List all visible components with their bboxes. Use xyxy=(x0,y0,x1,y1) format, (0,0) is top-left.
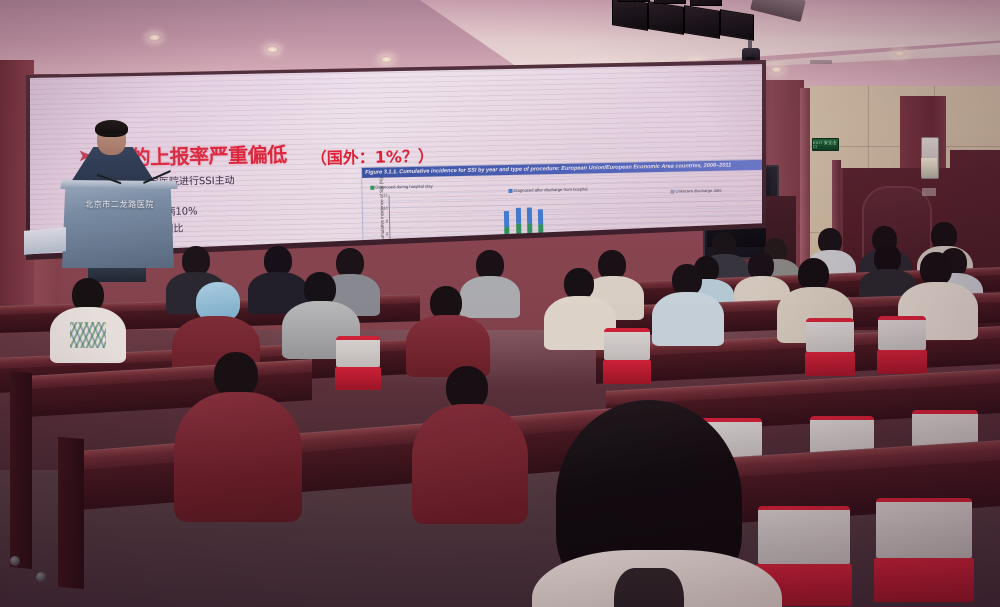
speaker-box-icon xyxy=(648,1,684,35)
y-tick: 6 xyxy=(379,231,388,236)
desk-end-panel xyxy=(58,437,84,589)
podium xyxy=(62,184,174,268)
wall-sconce-glow xyxy=(921,158,937,177)
laptop-screen[interactable] xyxy=(24,227,66,255)
lecture-hall-photo: EXIT 安全出口 ➤ SSI的上报率严重偏低 （国外：1%？） 为：Korel… xyxy=(0,0,1000,607)
chair[interactable] xyxy=(806,318,854,376)
desk-end-panel xyxy=(10,371,32,569)
ceiling-vent xyxy=(810,60,832,64)
y-tick: 12 xyxy=(379,192,388,197)
downlight-icon xyxy=(770,66,783,73)
exit-sign-label: EXIT 安全出口 xyxy=(813,141,838,149)
speaker-box-icon xyxy=(612,0,648,31)
chair[interactable] xyxy=(336,336,380,390)
exit-sign: EXIT 安全出口 xyxy=(812,138,839,151)
downlight-icon xyxy=(380,56,393,63)
downlight-icon xyxy=(893,50,906,57)
presenter-glasses-icon xyxy=(100,134,123,140)
speaker-box-icon xyxy=(690,0,722,6)
speaker-box-icon xyxy=(684,5,720,39)
y-tick: 8 xyxy=(379,218,388,223)
downlight-icon xyxy=(266,46,279,53)
desk-caster xyxy=(10,556,20,566)
speaker-box-icon xyxy=(720,9,754,40)
projector-mount-arm xyxy=(750,0,806,22)
downlight-icon xyxy=(148,34,161,41)
speaker-box-icon xyxy=(654,0,686,4)
chair[interactable] xyxy=(604,328,650,384)
foreground-hair-strands xyxy=(614,568,684,607)
chair[interactable] xyxy=(878,316,926,374)
tshirt-graphic xyxy=(70,322,106,348)
desk-caster xyxy=(36,572,46,582)
y-tick: 10 xyxy=(379,205,388,210)
chair-front[interactable] xyxy=(876,498,972,602)
wall-sconce-lower xyxy=(922,188,936,196)
security-camera-icon xyxy=(742,48,760,62)
speaker-box-icon xyxy=(618,0,650,2)
ceiling-speaker-rig xyxy=(612,0,822,54)
podium-label: 北京市二龙路医院 xyxy=(72,199,167,210)
